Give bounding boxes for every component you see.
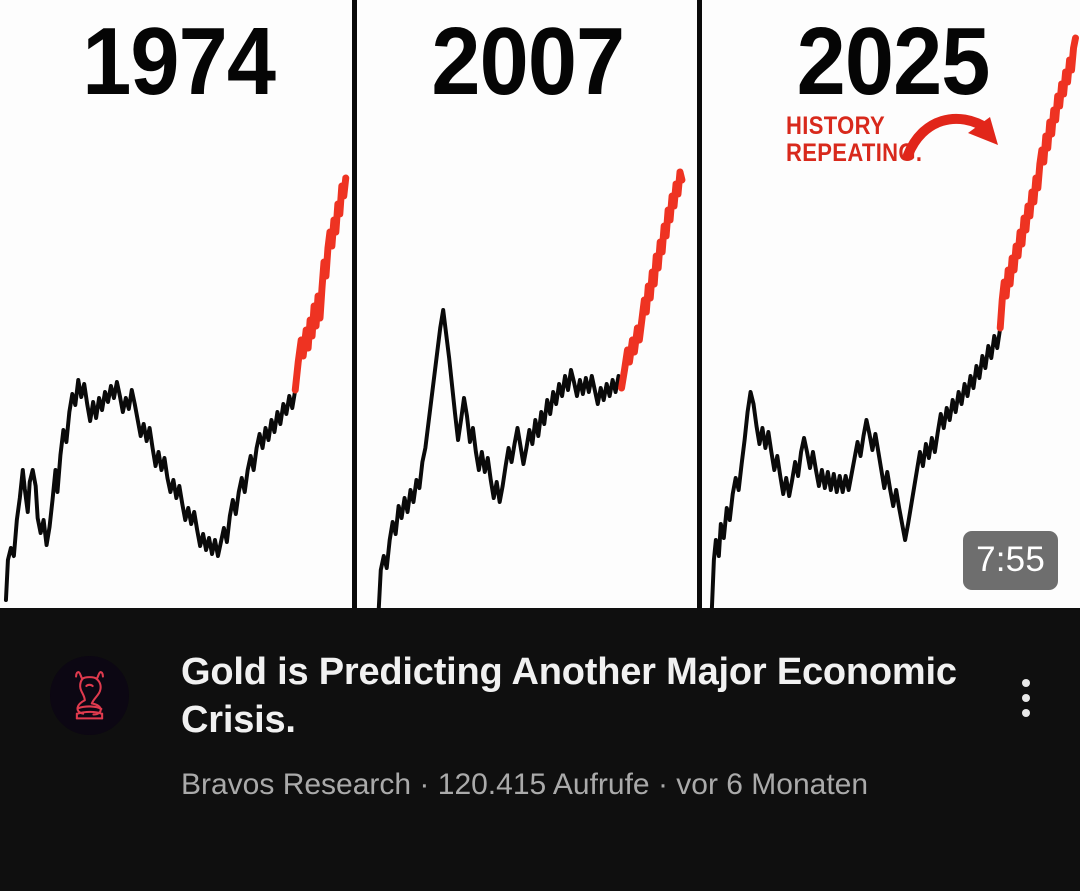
video-card: 1974 2007 2025 [0, 0, 1080, 891]
video-duration-badge: 7:55 [963, 531, 1058, 590]
chart-line-rally [295, 178, 346, 390]
chart-panels: 1974 2007 2025 [0, 0, 1080, 608]
chart-line-historic [379, 310, 622, 608]
menu-dot-icon [1022, 694, 1030, 702]
menu-dot-icon [1022, 709, 1030, 717]
chart-line-historic [711, 328, 999, 608]
more-options-button[interactable] [998, 662, 1054, 734]
video-meta-row: Gold is Predicting Another Major Economi… [0, 608, 1080, 891]
chart-panel-1974: 1974 [0, 0, 352, 608]
gold-price-chart-2025 [702, 0, 1080, 608]
gold-price-chart-1974 [0, 0, 352, 608]
chart-panel-2007: 2007 [357, 0, 697, 608]
chart-line-historic [6, 380, 295, 600]
menu-dot-icon [1022, 679, 1030, 687]
video-text-block: Gold is Predicting Another Major Economi… [129, 646, 998, 891]
video-title[interactable]: Gold is Predicting Another Major Economi… [181, 649, 988, 744]
chart-line-rally [621, 172, 681, 388]
gold-price-chart-2007 [357, 0, 697, 608]
video-subtitle: Bravos Research · 120.415 Aufrufe · vor … [181, 766, 988, 804]
chart-panel-2025: 2025 HISTORY REPEATING. [702, 0, 1080, 608]
channel-avatar[interactable] [50, 656, 129, 735]
video-thumbnail[interactable]: 1974 2007 2025 [0, 0, 1080, 608]
chart-line-rally [1000, 38, 1075, 328]
bull-chess-piece-logo-icon [50, 656, 129, 735]
